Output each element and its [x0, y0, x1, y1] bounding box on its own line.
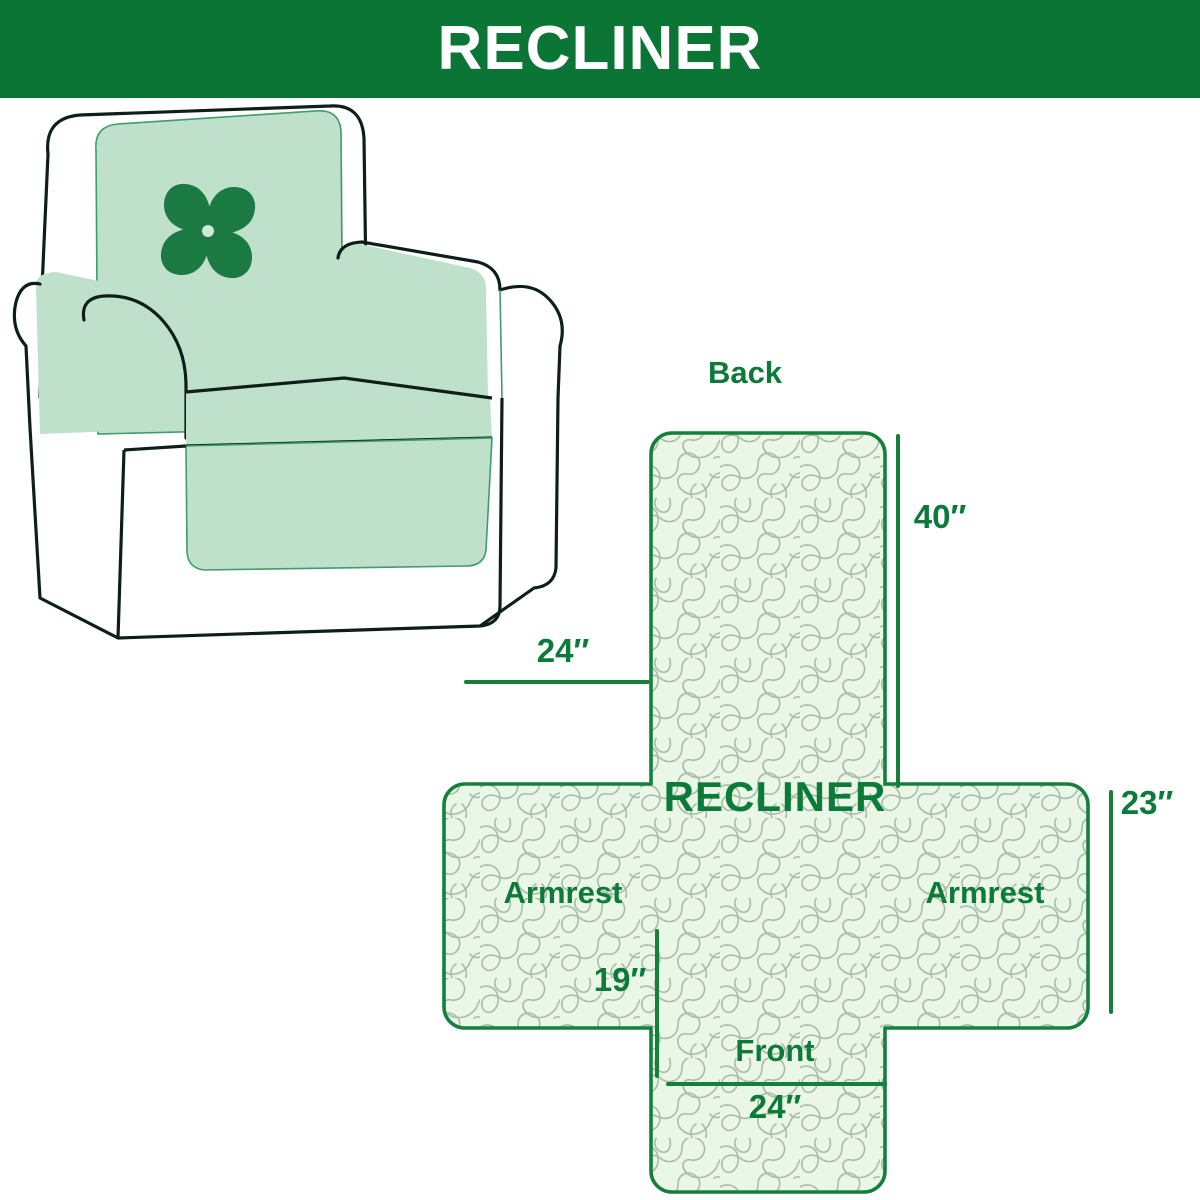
diagram-canvas: Back RECLINER Armrest Armrest Front 40″ …: [0, 98, 1200, 1200]
recliner-cover-cross-layout: Back RECLINER Armrest Armrest Front 40″ …: [0, 98, 1200, 1200]
dimension-label-front-height: 19″: [594, 961, 647, 998]
section-label-armrest-left: Armrest: [504, 875, 623, 910]
dimension-label-top-width: 24″: [537, 632, 590, 669]
section-label-armrest-right: Armrest: [926, 875, 1045, 910]
section-label-front: Front: [735, 1033, 814, 1068]
dimension-label-center-height: 23″: [1121, 784, 1174, 821]
center-label-recliner: RECLINER: [664, 773, 887, 820]
dimension-label-bottom-width: 24″: [749, 1088, 802, 1125]
dimension-label-back-height: 40″: [914, 498, 967, 535]
section-label-back: Back: [708, 355, 783, 390]
page-title: RECLINER: [438, 18, 763, 80]
header-banner: RECLINER: [0, 0, 1200, 98]
